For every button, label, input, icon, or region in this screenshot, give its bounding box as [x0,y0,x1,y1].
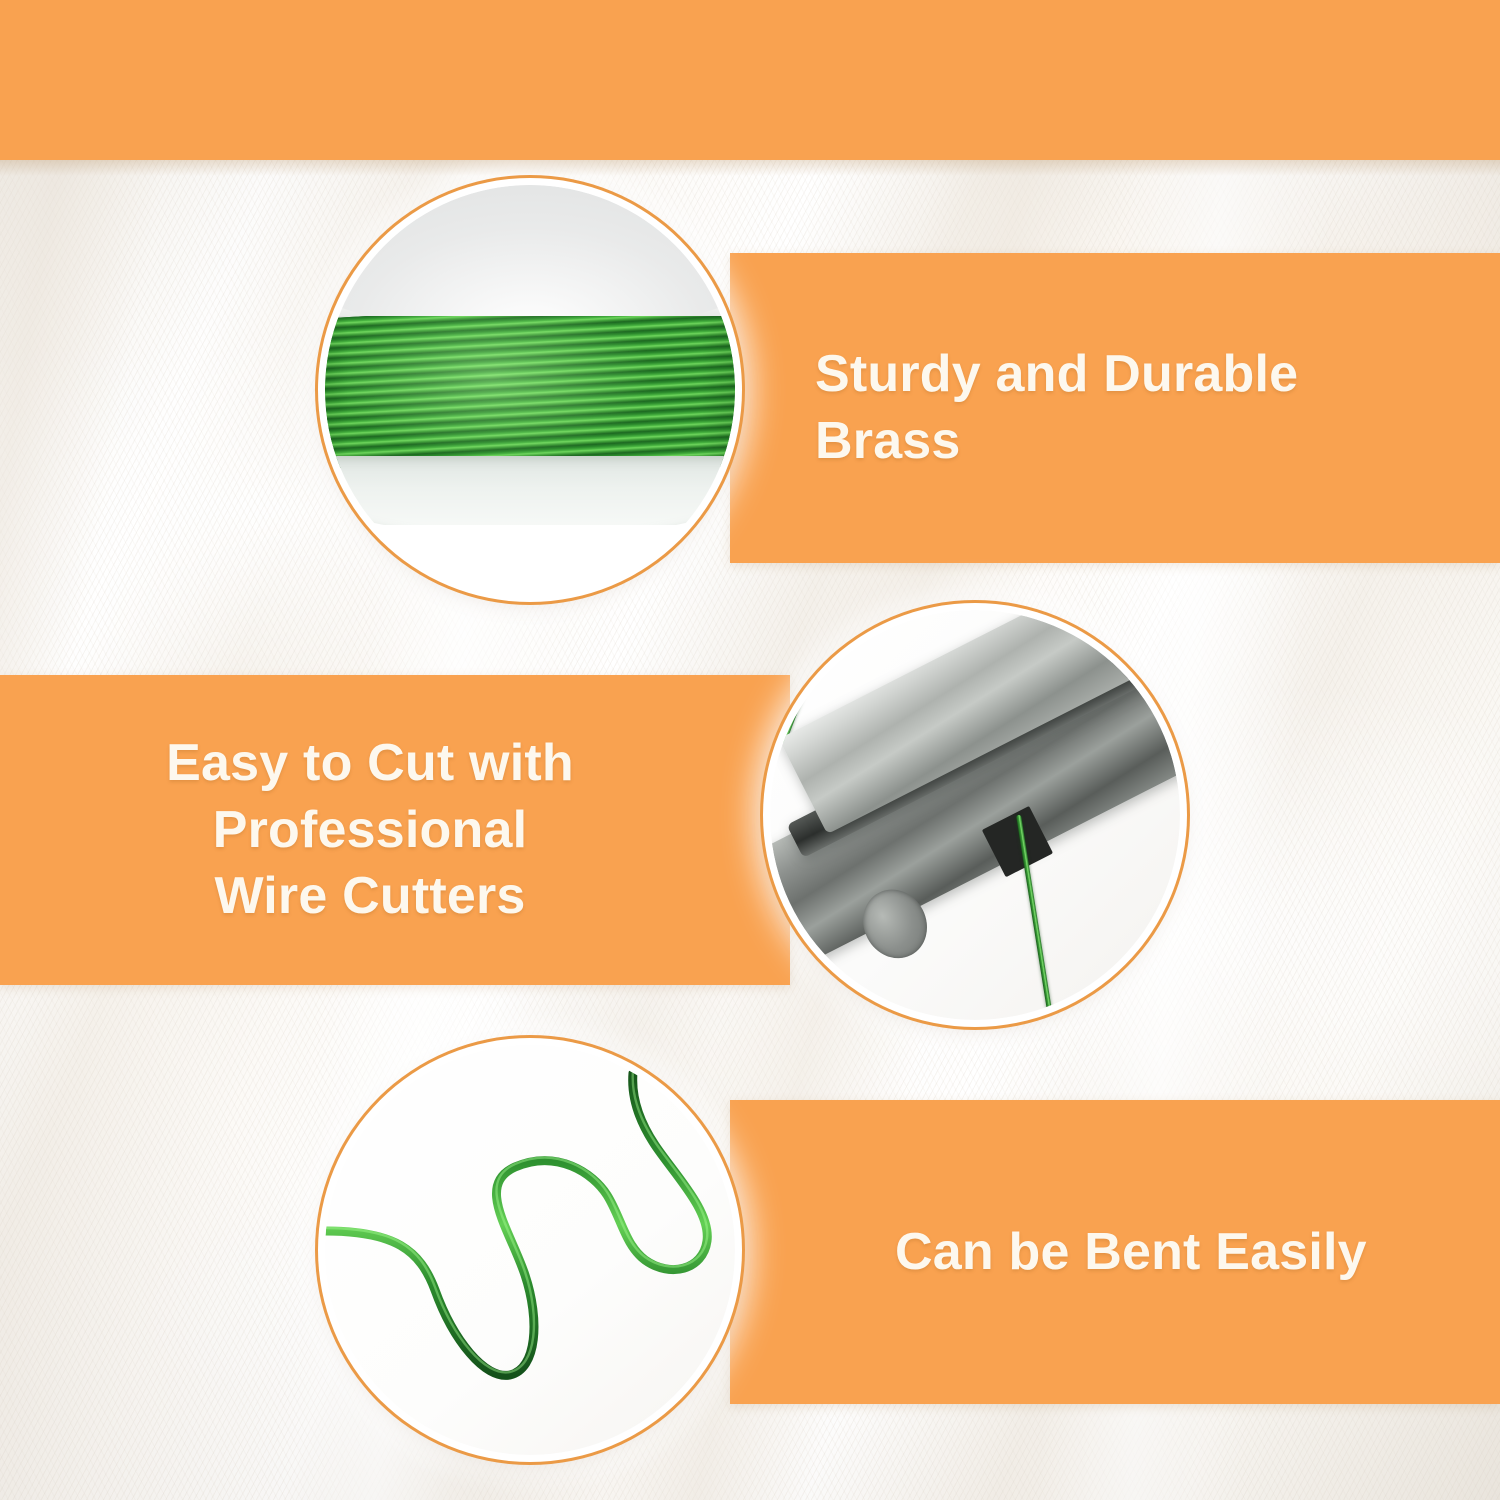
green-wire-spool-photo [325,185,735,595]
bent-wire-photo-inner [325,1045,735,1455]
wire-coil-sheen [325,316,735,468]
bent-wire-drawing [325,1045,735,1455]
wire-cutter-photo [770,610,1180,1020]
header-dropshadow [0,160,1500,176]
spool-photo-inner [325,185,735,595]
feature-label-easy-cut-line2: Wire Cutters [214,863,525,930]
feature-band-easy-cut: Easy to Cut with Professional Wire Cutte… [0,675,790,985]
feature-label-easy-cut-line1: Easy to Cut with Professional [10,730,730,863]
product-details-infographic: Product Details Sturdy and Durable Brass… [0,0,1500,1500]
feature-label-sturdy: Sturdy and Durable Brass [815,253,1455,563]
cutter-photo-inner [770,610,1180,1020]
feature-label-easy-cut: Easy to Cut with Professional Wire Cutte… [10,675,730,985]
spool-floor-shadow [325,525,735,595]
feature-band-bendable: Can be Bent Easily [730,1100,1500,1404]
spool-top-flange [325,185,735,333]
wire-coil-region [325,316,735,468]
bent-wire-loops-photo [325,1045,735,1455]
header-banner [0,0,1500,160]
feature-label-bendable: Can be Bent Easily [895,1100,1455,1404]
feature-band-sturdy: Sturdy and Durable Brass [730,253,1500,563]
